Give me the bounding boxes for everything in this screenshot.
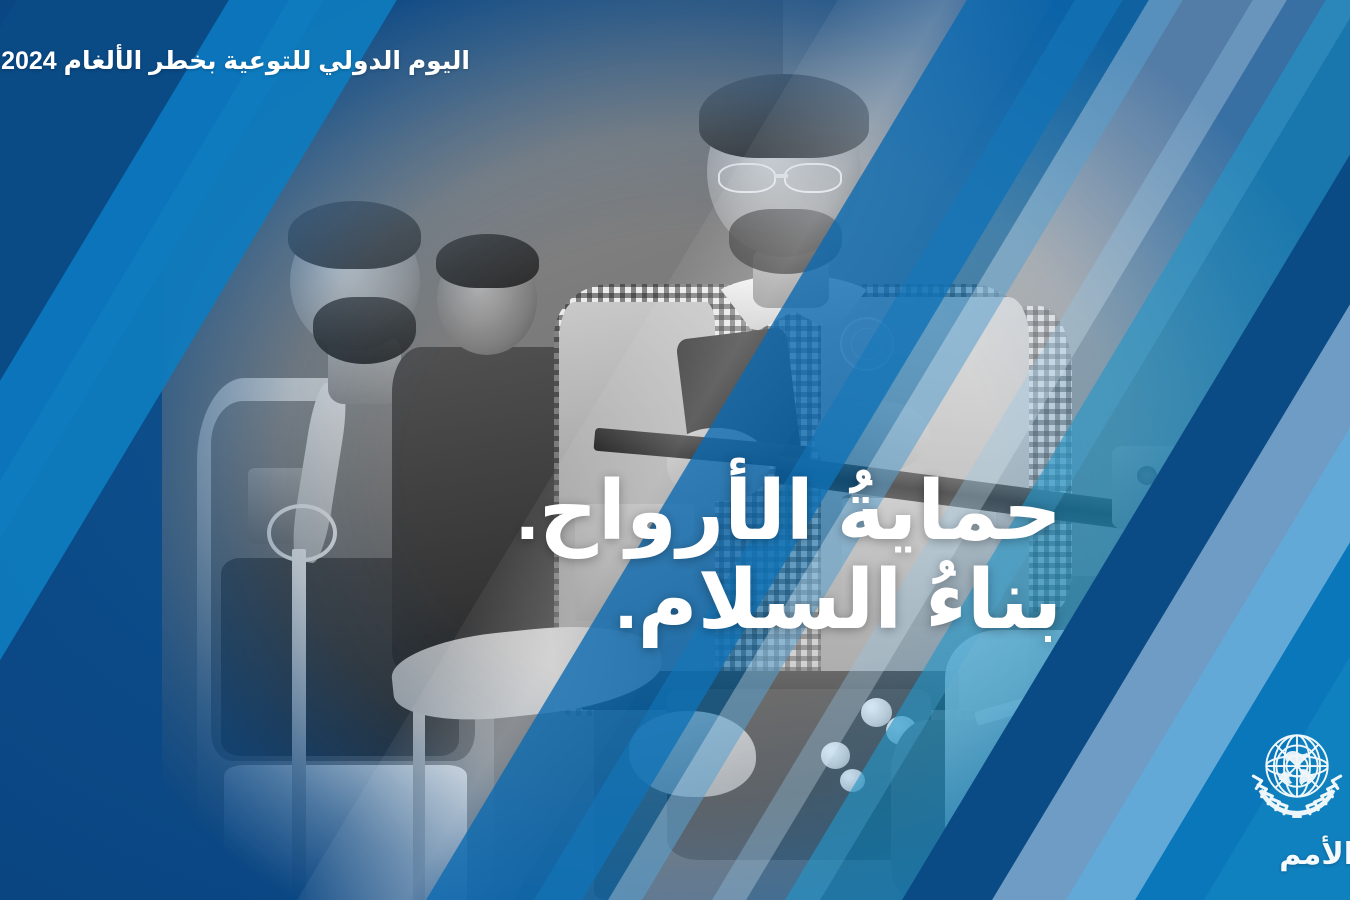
diagonal-stripe-overlay	[0, 0, 1350, 900]
organization-name: الأمم	[1279, 837, 1350, 872]
slogan-line-2: بناءُ السلام.	[516, 557, 1062, 646]
mine-awareness-poster: اليوم الدولي للتوعية بخطر الألغام 2024 ح…	[0, 0, 1350, 900]
campaign-slogan: حمايةُ الأرواح. بناءُ السلام.	[516, 468, 1062, 645]
slogan-line-1: حمايةُ الأرواح.	[516, 468, 1062, 557]
united-nations-emblem-icon	[1238, 710, 1350, 828]
page-title: اليوم الدولي للتوعية بخطر الألغام 2024	[1, 46, 470, 76]
